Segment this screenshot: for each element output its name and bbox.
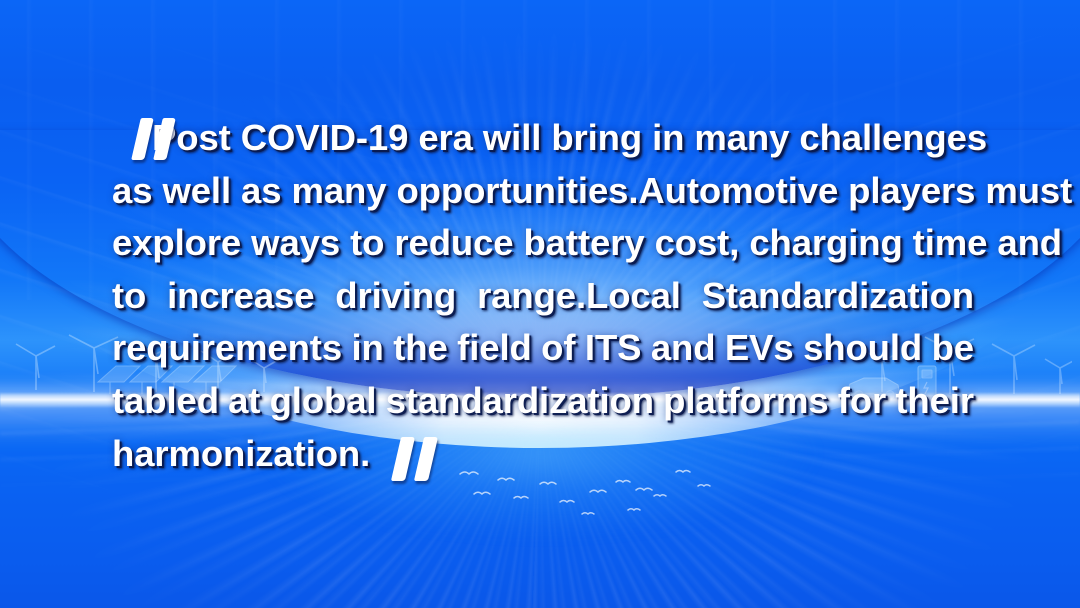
quote-word: and bbox=[651, 322, 716, 375]
quote-line-6: tabledatglobalstandardizationplatformsfo… bbox=[112, 375, 974, 428]
quote-word: ITS bbox=[585, 322, 641, 375]
open-quote-mark bbox=[136, 118, 171, 165]
quote-line-7-text: harmonization. bbox=[112, 433, 370, 474]
quote-word: tabled bbox=[112, 375, 219, 428]
quote-word: standardization bbox=[386, 375, 654, 428]
quote-word: in bbox=[352, 322, 384, 375]
quote-word: Standardization bbox=[702, 270, 974, 323]
quote-word: increase bbox=[167, 270, 314, 323]
quote-word: at bbox=[228, 375, 260, 428]
quote-word: range.Local bbox=[477, 270, 681, 323]
quote-line-3: explore ways to reduce battery cost, cha… bbox=[112, 217, 974, 270]
quote-word: to bbox=[112, 270, 146, 323]
quote-word: for bbox=[838, 375, 886, 428]
quote-word: the bbox=[393, 322, 447, 375]
quote-word: field bbox=[457, 322, 532, 375]
quote-line-7: harmonization. bbox=[112, 427, 974, 486]
quote-word: of bbox=[541, 322, 575, 375]
quote-word: platforms bbox=[663, 375, 828, 428]
quote-word: requirements bbox=[112, 322, 342, 375]
quote-line-1-text: Post COVID-19 era will bring in many cha… bbox=[152, 117, 987, 158]
quote-word: driving bbox=[335, 270, 456, 323]
quote-line-4: toincreasedrivingrange.LocalStandardizat… bbox=[112, 270, 974, 323]
quote-word: should bbox=[803, 322, 922, 375]
quote-block: Post COVID-19 era will bring in many cha… bbox=[112, 112, 974, 486]
quote-slide: Post COVID-19 era will bring in many cha… bbox=[0, 0, 1080, 608]
quote-line-2: as well as many opportunities.Automotive… bbox=[112, 165, 974, 218]
quote-word: be bbox=[932, 322, 974, 375]
quote-word: EVs bbox=[725, 322, 794, 375]
quote-line-5: requirementsinthefieldofITSandEVsshouldb… bbox=[112, 322, 974, 375]
close-quote-mark bbox=[396, 437, 433, 496]
quote-word: global bbox=[270, 375, 377, 428]
quote-line-1: Post COVID-19 era will bring in many cha… bbox=[112, 112, 974, 165]
quote-word: their bbox=[895, 375, 974, 428]
